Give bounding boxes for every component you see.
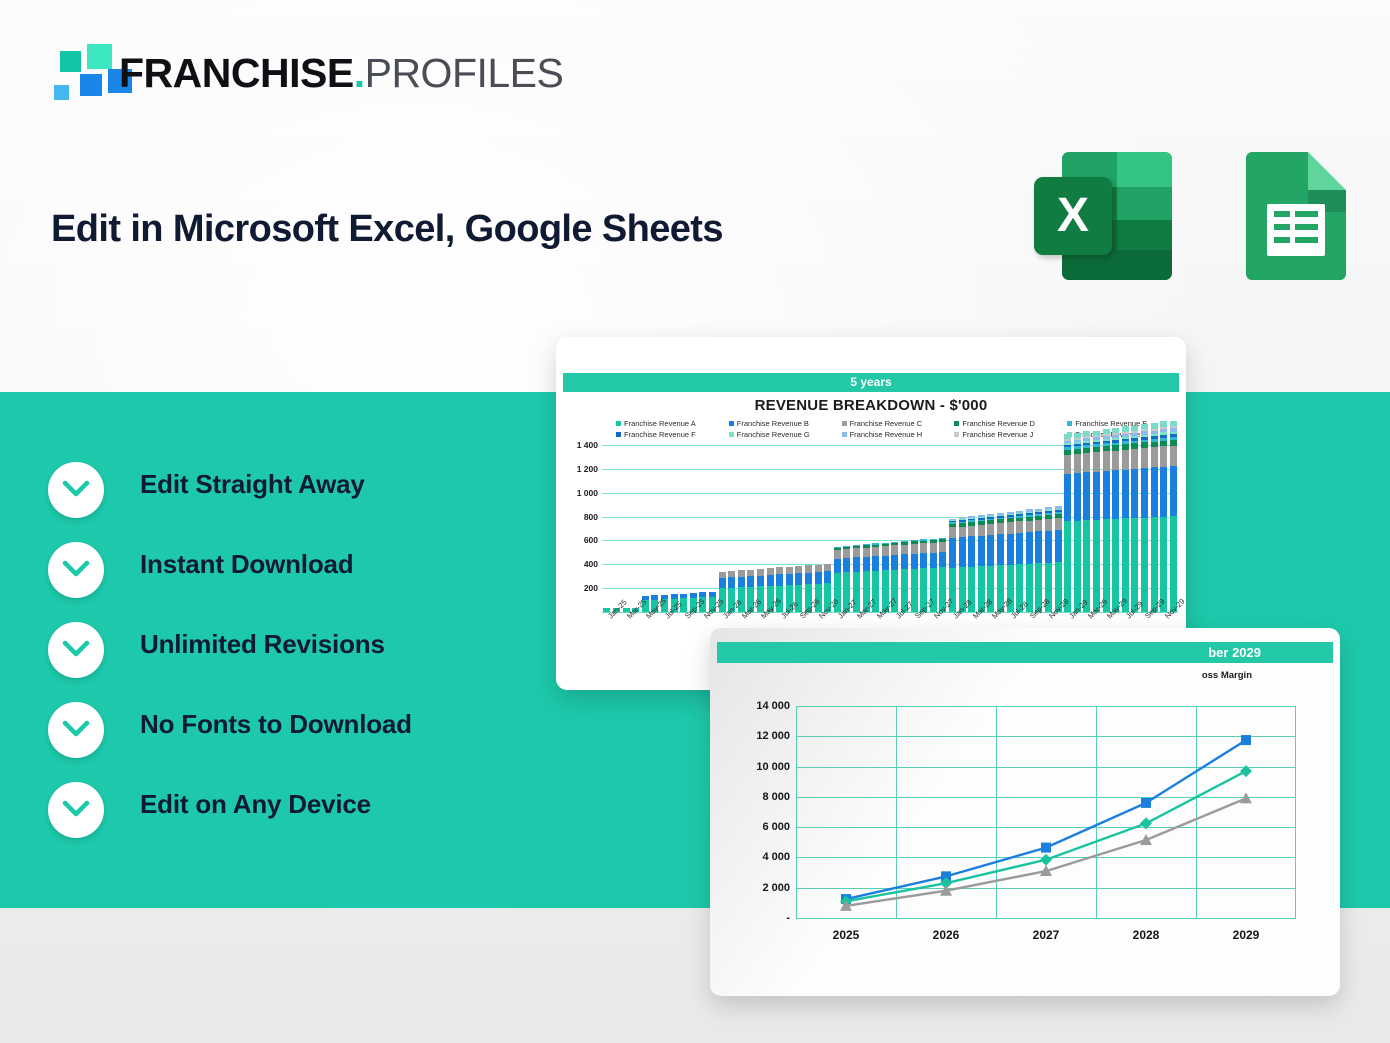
y-axis-tick-label: 800 bbox=[584, 512, 598, 522]
google-sheets-icon bbox=[1246, 152, 1346, 280]
bar-segment bbox=[834, 559, 841, 573]
legend-swatch-icon bbox=[842, 421, 847, 426]
bar-segment bbox=[872, 556, 879, 571]
y-axis-tick-label: 14 000 bbox=[756, 700, 790, 712]
legend-swatch-icon bbox=[954, 432, 959, 437]
chevron-down-icon bbox=[62, 479, 90, 501]
excel-cell bbox=[1117, 152, 1172, 187]
bar-segment bbox=[1103, 471, 1110, 519]
bar-segment bbox=[1055, 518, 1062, 530]
data-point-marker bbox=[1141, 798, 1151, 808]
bar-column[interactable] bbox=[1151, 423, 1158, 612]
brand-wordmark: FRANCHISE.PROFILES bbox=[119, 42, 563, 104]
chevron-down-icon bbox=[48, 622, 104, 678]
logo-square-5 bbox=[54, 85, 69, 100]
data-point-marker bbox=[1041, 843, 1051, 853]
y-axis-tick-label: 600 bbox=[584, 535, 598, 545]
bar-segment bbox=[1035, 531, 1042, 563]
bar-segment bbox=[949, 538, 956, 568]
bar-segment bbox=[1045, 519, 1052, 531]
profit-line-series-group bbox=[796, 706, 1296, 918]
y-axis-tick-label: 1 200 bbox=[577, 464, 598, 474]
data-point-marker bbox=[1240, 792, 1252, 803]
legend-swatch-icon bbox=[616, 421, 621, 426]
legend-label: Franchise Revenue F bbox=[624, 430, 696, 439]
bar-segment bbox=[776, 574, 783, 585]
bar-segment bbox=[853, 557, 860, 571]
bar-segment bbox=[795, 566, 802, 573]
bar-column[interactable] bbox=[1045, 507, 1052, 612]
bar-segment bbox=[939, 542, 946, 552]
gridline bbox=[602, 445, 1178, 446]
bar-segment bbox=[978, 525, 985, 536]
bar-segment bbox=[949, 527, 956, 537]
bar-segment bbox=[1064, 455, 1071, 474]
bar-column[interactable] bbox=[978, 515, 985, 612]
bar-segment bbox=[1007, 534, 1014, 565]
x-axis-tick-label: 2027 bbox=[1033, 928, 1060, 942]
bar-column[interactable] bbox=[1083, 431, 1090, 612]
bar-segment bbox=[1016, 533, 1023, 564]
legend-item[interactable]: Franchise Revenue A bbox=[616, 419, 725, 428]
bar-segment bbox=[1093, 520, 1100, 612]
bar-segment bbox=[1074, 454, 1081, 473]
squares-logo-icon bbox=[47, 44, 109, 102]
chevron-down-icon bbox=[48, 542, 104, 598]
brand-logo[interactable]: FRANCHISE.PROFILES bbox=[47, 42, 547, 104]
bar-segment bbox=[882, 556, 889, 571]
chevron-down-icon bbox=[62, 559, 90, 581]
bar-segment bbox=[795, 573, 802, 584]
bar-segment bbox=[815, 572, 822, 584]
bar-segment bbox=[1026, 521, 1033, 532]
bar-segment bbox=[767, 575, 774, 586]
feature-item-label: Edit Straight Away bbox=[140, 469, 365, 500]
feature-list: Edit Straight AwayInstant DownloadUnlimi… bbox=[48, 462, 568, 862]
bar-segment bbox=[1112, 470, 1119, 519]
legend-swatch-icon bbox=[729, 421, 734, 426]
bar-segment bbox=[815, 565, 822, 572]
bar-column[interactable] bbox=[1064, 434, 1071, 612]
bar-segment bbox=[1026, 532, 1033, 564]
bar-column[interactable] bbox=[1035, 509, 1042, 612]
excel-cell bbox=[1117, 220, 1172, 250]
bar-column[interactable] bbox=[1112, 428, 1119, 612]
bar-segment bbox=[939, 552, 946, 567]
bar-segment bbox=[1122, 450, 1129, 470]
legend-label: Franchise Revenue H bbox=[850, 430, 923, 439]
chevron-down-icon bbox=[62, 639, 90, 661]
profit-chart-legend: oss Margin bbox=[710, 670, 1340, 681]
bar-segment bbox=[891, 555, 898, 570]
gridline bbox=[602, 540, 1178, 541]
bar-column[interactable] bbox=[1026, 509, 1033, 612]
legend-item[interactable]: Franchise Revenue B bbox=[729, 419, 838, 428]
sheets-table-glyph bbox=[1267, 204, 1325, 256]
bar-segment bbox=[786, 574, 793, 585]
feature-item-label: Edit on Any Device bbox=[140, 789, 371, 820]
revenue-chart-title: REVENUE BREAKDOWN - $'000 bbox=[556, 397, 1186, 414]
bar-segment bbox=[1122, 470, 1129, 519]
logo-square-3 bbox=[80, 74, 102, 96]
profit-chart-card[interactable]: ber 2029 oss Margin -2 0004 0006 0008 00… bbox=[710, 628, 1340, 996]
legend-swatch-icon bbox=[842, 432, 847, 437]
bar-segment bbox=[853, 548, 860, 557]
data-point-marker bbox=[1040, 854, 1052, 866]
bar-column[interactable] bbox=[959, 518, 966, 612]
bar-segment bbox=[834, 550, 841, 559]
bar-segment bbox=[805, 565, 812, 572]
bar-column[interactable] bbox=[911, 540, 918, 612]
bar-segment bbox=[920, 553, 927, 568]
bar-segment bbox=[843, 558, 850, 572]
chevron-down-icon bbox=[48, 782, 104, 838]
profit-chart-y-axis: -2 0004 0006 0008 00010 00012 00014 000 bbox=[720, 706, 790, 918]
bar-segment bbox=[1074, 521, 1081, 612]
bar-segment bbox=[1103, 451, 1110, 471]
bar-segment bbox=[1170, 466, 1177, 516]
profit-chart-x-axis: 20252026202720282029 bbox=[796, 928, 1296, 952]
bar-segment bbox=[987, 535, 994, 566]
bar-segment bbox=[824, 571, 831, 583]
bar-segment bbox=[1151, 447, 1158, 467]
x-axis-tick-label: 2025 bbox=[833, 928, 860, 942]
bar-segment bbox=[824, 564, 831, 572]
chevron-down-icon bbox=[62, 799, 90, 821]
bar-segment bbox=[968, 536, 975, 566]
feature-item-4[interactable]: No Fonts to Download bbox=[48, 702, 568, 782]
y-axis-tick-label: 200 bbox=[584, 583, 598, 593]
legend-swatch-icon bbox=[729, 432, 734, 437]
excel-letter: X bbox=[1034, 177, 1112, 255]
feature-item-5[interactable]: Edit on Any Device bbox=[48, 782, 568, 862]
bar-segment bbox=[901, 545, 908, 555]
bar-segment bbox=[997, 523, 1004, 534]
y-axis-tick-label: 12 000 bbox=[756, 730, 790, 742]
sheets-table-cell bbox=[1274, 224, 1290, 230]
bar-segment bbox=[872, 547, 879, 556]
x-axis-tick-label: 2029 bbox=[1233, 928, 1260, 942]
legend-swatch-icon bbox=[1067, 421, 1072, 426]
bar-segment bbox=[1007, 522, 1014, 533]
bar-segment bbox=[930, 553, 937, 568]
profit-chart-plot-area bbox=[796, 706, 1296, 918]
legend-label: Franchise Revenue D bbox=[962, 419, 1035, 428]
bar-segment bbox=[987, 524, 994, 535]
bar-segment bbox=[1141, 518, 1148, 612]
feature-item-label: Instant Download bbox=[140, 549, 353, 580]
brand-name-primary: FRANCHISE bbox=[119, 50, 354, 96]
bar-segment bbox=[1035, 520, 1042, 532]
bar-segment bbox=[1151, 517, 1158, 612]
bar-segment bbox=[1083, 453, 1090, 472]
bar-column[interactable] bbox=[1055, 506, 1062, 612]
bar-segment bbox=[891, 545, 898, 555]
legend-label: Franchise Revenue C bbox=[850, 419, 923, 428]
brand-name-secondary: PROFILES bbox=[365, 50, 564, 96]
y-axis-tick-label: 1 400 bbox=[577, 440, 598, 450]
revenue-chart-y-axis: 2004006008001 0001 2001 400 bbox=[556, 425, 598, 610]
x-axis-tick-label: 2026 bbox=[933, 928, 960, 942]
bar-segment bbox=[1083, 472, 1090, 520]
feature-item-2[interactable]: Instant Download bbox=[48, 542, 568, 622]
bar-segment bbox=[786, 567, 793, 574]
bar-column[interactable] bbox=[1016, 511, 1023, 612]
data-point-marker bbox=[1140, 817, 1152, 829]
bar-column[interactable] bbox=[1074, 433, 1081, 612]
bar-column[interactable] bbox=[1170, 421, 1177, 613]
bar-segment bbox=[1141, 468, 1148, 517]
legend-item[interactable]: Franchise Revenue D bbox=[954, 419, 1063, 428]
gridline bbox=[602, 469, 1178, 470]
bar-segment bbox=[863, 557, 870, 571]
y-axis-tick-label: 10 000 bbox=[756, 761, 790, 773]
bar-segment bbox=[1055, 530, 1062, 562]
bar-segment bbox=[1131, 469, 1138, 518]
bar-column[interactable] bbox=[1103, 429, 1110, 612]
legend-item[interactable]: Franchise Revenue G bbox=[729, 430, 838, 439]
bar-column[interactable] bbox=[1122, 426, 1129, 612]
app-icon-group: X bbox=[1034, 152, 1346, 280]
gridline bbox=[796, 918, 1296, 919]
bar-segment bbox=[1093, 472, 1100, 520]
bar-segment bbox=[776, 567, 783, 574]
bar-column[interactable] bbox=[997, 513, 1004, 612]
legend-swatch-icon bbox=[616, 432, 621, 437]
sheets-page-fold bbox=[1308, 152, 1346, 190]
bar-segment bbox=[901, 554, 908, 569]
gridline bbox=[602, 517, 1178, 518]
feature-item-1[interactable]: Edit Straight Away bbox=[48, 462, 568, 542]
y-axis-tick-label: 4 000 bbox=[762, 851, 790, 863]
bar-segment bbox=[930, 543, 937, 553]
bar-segment bbox=[1160, 446, 1167, 466]
bar-segment bbox=[843, 549, 850, 558]
bar-segment bbox=[719, 578, 726, 588]
legend-item[interactable]: Franchise Revenue C bbox=[842, 419, 951, 428]
feature-item-3[interactable]: Unlimited Revisions bbox=[48, 622, 568, 702]
legend-label: Franchise Revenue B bbox=[737, 419, 809, 428]
sheets-table-cell bbox=[1295, 237, 1318, 243]
bar-segment bbox=[959, 527, 966, 538]
gridline bbox=[602, 493, 1178, 494]
gridline bbox=[602, 564, 1178, 565]
legend-label: Franchise Revenue G bbox=[737, 430, 810, 439]
bar-segment bbox=[1131, 449, 1138, 469]
bar-segment bbox=[1016, 521, 1023, 532]
excel-badge: X bbox=[1034, 177, 1112, 255]
bar-segment bbox=[997, 534, 1004, 565]
bar-segment bbox=[863, 548, 870, 557]
chevron-down-icon bbox=[48, 702, 104, 758]
bar-segment bbox=[1093, 452, 1100, 471]
excel-cell bbox=[1117, 187, 1172, 220]
bar-segment bbox=[757, 576, 764, 587]
chevron-down-icon bbox=[48, 462, 104, 518]
chevron-down-icon bbox=[62, 719, 90, 741]
line-series-diamond bbox=[846, 771, 1246, 901]
bar-segment bbox=[920, 543, 927, 553]
bar-column[interactable] bbox=[1160, 421, 1167, 612]
legend-item[interactable]: Franchise Revenue H bbox=[842, 430, 951, 439]
y-axis-tick-label: 1 000 bbox=[577, 488, 598, 498]
sheets-table-cell bbox=[1295, 224, 1318, 230]
y-axis-tick-label: - bbox=[786, 912, 790, 924]
bar-segment bbox=[911, 554, 918, 569]
feature-item-label: Unlimited Revisions bbox=[140, 629, 385, 660]
bar-segment bbox=[767, 568, 774, 575]
page-title: Edit in Microsoft Excel, Google Sheets bbox=[51, 208, 723, 251]
bar-segment bbox=[1064, 474, 1071, 521]
microsoft-excel-icon: X bbox=[1034, 152, 1172, 280]
bar-segment bbox=[968, 526, 975, 537]
revenue-card-banner: 5 years bbox=[563, 373, 1179, 392]
bar-segment bbox=[747, 576, 754, 587]
bar-segment bbox=[882, 546, 889, 555]
y-axis-tick-label: 400 bbox=[584, 559, 598, 569]
bar-segment bbox=[1151, 467, 1158, 517]
bar-segment bbox=[805, 573, 812, 585]
sheets-table-cell bbox=[1295, 211, 1318, 217]
brand-name-dot: . bbox=[354, 50, 365, 96]
bar-segment bbox=[1170, 516, 1177, 612]
bar-segment bbox=[1112, 451, 1119, 471]
bar-segment bbox=[738, 577, 745, 588]
sheets-table-cell bbox=[1274, 237, 1290, 243]
bar-segment bbox=[1170, 446, 1177, 466]
legend-item[interactable]: Franchise Revenue F bbox=[616, 430, 725, 439]
legend-swatch-icon bbox=[954, 421, 959, 426]
sheets-table-cell bbox=[1274, 211, 1290, 217]
bar-segment bbox=[1160, 467, 1167, 517]
bar-segment bbox=[728, 577, 735, 588]
y-axis-tick-label: 8 000 bbox=[762, 791, 790, 803]
bar-column[interactable] bbox=[968, 516, 975, 612]
bar-segment bbox=[1131, 518, 1138, 612]
revenue-chart-plot-area bbox=[602, 445, 1178, 612]
legend-label: Franchise Revenue A bbox=[624, 419, 696, 428]
bar-segment bbox=[959, 537, 966, 567]
y-axis-tick-label: 2 000 bbox=[762, 882, 790, 894]
legend-label: Franchise Revenue J bbox=[962, 430, 1033, 439]
bar-segment bbox=[1074, 473, 1081, 521]
legend-item[interactable]: Franchise Revenue J bbox=[954, 430, 1063, 439]
data-point-marker bbox=[1241, 735, 1251, 745]
bar-segment bbox=[1141, 448, 1148, 468]
gridline bbox=[602, 588, 1178, 589]
bar-column[interactable] bbox=[1131, 426, 1138, 612]
logo-square-1 bbox=[60, 51, 81, 72]
data-point-marker bbox=[1240, 765, 1252, 777]
bar-segment bbox=[1045, 531, 1052, 563]
feature-item-label: No Fonts to Download bbox=[140, 709, 412, 740]
y-axis-tick-label: 6 000 bbox=[762, 821, 790, 833]
bar-segment bbox=[911, 544, 918, 554]
bar-segment bbox=[757, 569, 764, 576]
bar-segment bbox=[978, 536, 985, 567]
x-axis-tick-label: 2028 bbox=[1133, 928, 1160, 942]
bar-column[interactable] bbox=[1141, 424, 1148, 612]
logo-square-2 bbox=[87, 44, 112, 69]
bar-column[interactable] bbox=[1093, 431, 1100, 612]
profit-card-banner: ber 2029 bbox=[717, 642, 1333, 663]
bar-segment bbox=[1112, 519, 1119, 612]
